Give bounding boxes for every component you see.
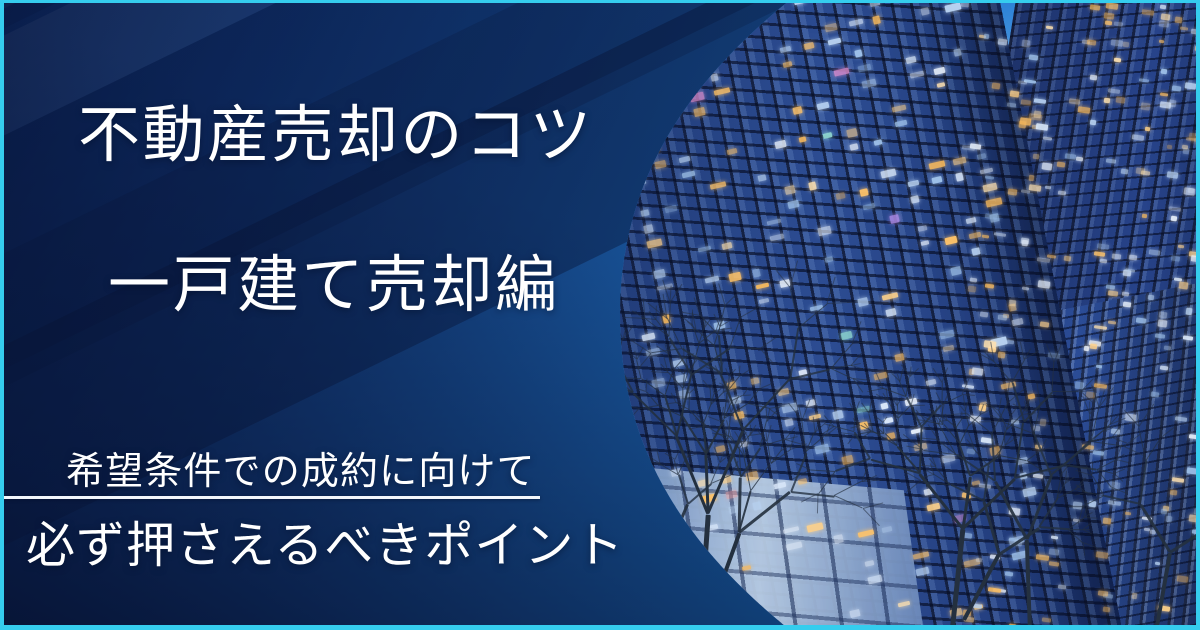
footer-headline: 必ず押さえるべきポイント <box>26 506 624 577</box>
frame-top-accent <box>0 0 1200 3</box>
banner-canvas: 不動産売却のコツ 一戸建て売却編 希望条件での成約に向けて 必ず押さえるべきポイ… <box>0 0 1200 630</box>
frame-bottom-accent <box>0 625 1200 630</box>
page-title-line-2: 一戸建て売却編 <box>108 234 559 324</box>
frame-right-accent <box>1196 0 1200 630</box>
frame-left-accent <box>0 0 4 630</box>
page-title-line-1: 不動産売却のコツ <box>78 84 594 174</box>
horizontal-divider <box>2 496 540 499</box>
footer-subtitle: 希望条件での成約に向けて <box>66 440 536 495</box>
